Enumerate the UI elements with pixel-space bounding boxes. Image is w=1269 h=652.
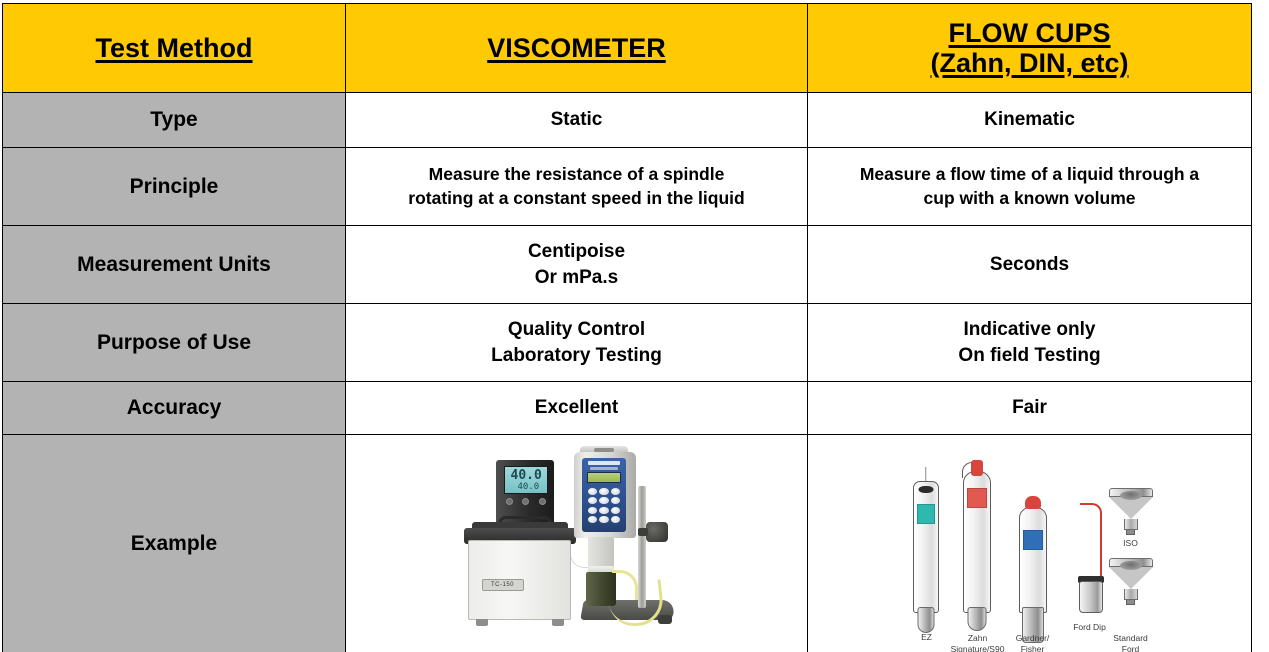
flow-cup-label-gardner-fisher: Gardner/ Fisher bbox=[1003, 633, 1063, 652]
bath-button-3 bbox=[539, 498, 546, 505]
keypad-key bbox=[588, 516, 597, 523]
keypad-key bbox=[588, 488, 597, 495]
keypad-key bbox=[611, 516, 620, 523]
cell-type-viscometer: Static bbox=[346, 93, 808, 148]
row-label-type: Type bbox=[3, 93, 346, 148]
iso-cup-well bbox=[1120, 491, 1142, 500]
cell-principle-flowcups: Measure a flow time of a liquid through … bbox=[808, 148, 1252, 226]
viscometer-lcd-screen bbox=[587, 472, 621, 483]
table-header-row: Test Method VISCOMETER FLOW CUPS (Zahn, … bbox=[3, 4, 1252, 93]
comparison-table-page: Test Method VISCOMETER FLOW CUPS (Zahn, … bbox=[0, 0, 1269, 652]
keypad-key bbox=[611, 488, 620, 495]
flow-cups-illustration: EZ Zahn bbox=[899, 442, 1161, 647]
header-label-viscometer: VISCOMETER bbox=[487, 33, 666, 63]
table-row-measurement-units: Measurement Units Centipoise Or mPa.s Se… bbox=[3, 226, 1252, 304]
flow-cup-label-iso-line1: ISO bbox=[1123, 538, 1138, 548]
flow-cup-label-ford-dip: Ford Dip bbox=[1059, 622, 1121, 633]
bath-button-2 bbox=[522, 498, 529, 505]
ford-dip-bowl bbox=[1079, 581, 1103, 613]
viscometer-keypad bbox=[588, 488, 621, 524]
cell-principle-flowcups-line2: cup with a known volume bbox=[924, 188, 1136, 208]
gardner-cup-clip bbox=[1025, 496, 1041, 509]
flow-cup-label-standard-ford-line1: Standard bbox=[1113, 633, 1148, 643]
flow-cup-label-zahn-line2: Signature/S90 bbox=[951, 644, 1005, 652]
row-label-measurement-units: Measurement Units bbox=[3, 226, 346, 304]
header-cell-flow-cups: FLOW CUPS (Zahn, DIN, etc) bbox=[808, 4, 1252, 93]
zahn-cup-bowl bbox=[967, 607, 986, 631]
table-row-principle: Principle Measure the resistance of a sp… bbox=[3, 148, 1252, 226]
ford-dip-handle bbox=[1080, 503, 1102, 587]
header-label-test-method: Test Method bbox=[96, 33, 253, 63]
flow-cups-photo: EZ Zahn bbox=[808, 436, 1251, 652]
cell-example-viscometer: 40.0 40.0 bbox=[346, 435, 808, 652]
keypad-key bbox=[599, 488, 608, 495]
cell-purpose-flowcups: Indicative only On field Testing bbox=[808, 304, 1252, 382]
table-row-type: Type Static Kinematic bbox=[3, 93, 1252, 148]
flow-cup-ford-dip bbox=[1071, 493, 1111, 613]
standard-ford-well bbox=[1120, 561, 1142, 570]
cell-units-viscometer: Centipoise Or mPa.s bbox=[346, 226, 808, 304]
table-row-example: Example 40.0 40.0 bbox=[3, 435, 1252, 652]
flow-cup-gardner-fisher bbox=[1019, 507, 1047, 613]
viscometer-control-panel bbox=[582, 458, 626, 532]
keypad-key bbox=[599, 516, 608, 523]
cell-units-flowcups-line1: Seconds bbox=[990, 254, 1069, 275]
cell-purpose-viscometer-line1: Quality Control bbox=[508, 319, 645, 340]
flow-cup-ez bbox=[913, 481, 939, 613]
keypad-key bbox=[611, 507, 620, 514]
cell-purpose-viscometer: Quality Control Laboratory Testing bbox=[346, 304, 808, 382]
cell-accuracy-viscometer: Excellent bbox=[346, 382, 808, 435]
gardner-cup-body bbox=[1019, 507, 1047, 613]
header-cell-test-method: Test Method bbox=[3, 4, 346, 93]
iso-cup-tip bbox=[1126, 530, 1135, 535]
cell-purpose-flowcups-line2: On field Testing bbox=[958, 345, 1100, 366]
test-method-comparison-table: Test Method VISCOMETER FLOW CUPS (Zahn, … bbox=[2, 3, 1252, 652]
ez-cup-label-band bbox=[917, 504, 935, 524]
row-label-accuracy: Accuracy bbox=[3, 382, 346, 435]
row-label-example: Example bbox=[3, 435, 346, 652]
header-label-flow-cups-line2: (Zahn, DIN, etc) bbox=[930, 48, 1128, 78]
zahn-cup-clip bbox=[971, 460, 983, 476]
flow-cup-iso bbox=[1109, 488, 1153, 535]
flow-cup-label-gardner-line2: Fisher bbox=[1021, 644, 1045, 652]
row-label-purpose-of-use: Purpose of Use bbox=[3, 304, 346, 382]
viscometer-photo: 40.0 40.0 bbox=[346, 436, 807, 652]
viscometer-illustration: 40.0 40.0 bbox=[462, 442, 692, 647]
standard-ford-cone bbox=[1109, 567, 1153, 589]
standard-ford-tip bbox=[1126, 600, 1135, 605]
standard-ford-rim bbox=[1109, 558, 1153, 567]
flow-cup-label-zahn-line1: Zahn bbox=[968, 633, 987, 643]
bath-foot-left bbox=[476, 619, 488, 626]
cell-principle-flowcups-line1: Measure a flow time of a liquid through … bbox=[860, 164, 1199, 184]
standard-ford-neck bbox=[1124, 589, 1138, 600]
cell-purpose-flowcups-line1: Indicative only bbox=[964, 319, 1096, 340]
cell-units-viscometer-line2: Or mPa.s bbox=[535, 267, 618, 288]
cell-accuracy-flowcups: Fair bbox=[808, 382, 1252, 435]
flow-cup-label-zahn: Zahn Signature/S90 bbox=[945, 633, 1011, 652]
iso-cup-rim bbox=[1109, 488, 1153, 497]
zahn-cup-label-band bbox=[967, 488, 987, 508]
cell-principle-viscometer-line1: Measure the resistance of a spindle bbox=[429, 164, 725, 184]
table-row-accuracy: Accuracy Excellent Fair bbox=[3, 382, 1252, 435]
row-label-principle: Principle bbox=[3, 148, 346, 226]
zahn-cup-body bbox=[963, 471, 991, 613]
keypad-key bbox=[599, 497, 608, 504]
ez-cup-body bbox=[913, 481, 939, 613]
bath-controller-buttons bbox=[506, 498, 546, 505]
flow-cup-label-ford-dip-line1: Ford Dip bbox=[1073, 622, 1106, 632]
keypad-key bbox=[588, 507, 597, 514]
cell-principle-viscometer: Measure the resistance of a spindle rota… bbox=[346, 148, 808, 226]
keypad-key bbox=[599, 507, 608, 514]
flow-cup-label-gardner-line1: Gardner/ bbox=[1016, 633, 1050, 643]
flow-cup-label-iso: ISO bbox=[1107, 538, 1155, 549]
flow-cup-label-ez-line1: EZ bbox=[921, 632, 932, 642]
keypad-key bbox=[611, 497, 620, 504]
cell-principle-viscometer-line2: rotating at a constant speed in the liqu… bbox=[408, 188, 744, 208]
ez-cup-cap bbox=[918, 486, 933, 493]
header-cell-viscometer: VISCOMETER bbox=[346, 4, 808, 93]
cell-example-flowcups: EZ Zahn bbox=[808, 435, 1252, 652]
cell-type-flowcups: Kinematic bbox=[808, 93, 1252, 148]
flow-cup-standard-ford bbox=[1109, 558, 1153, 605]
flow-cup-label-standard-ford-line2: Ford bbox=[1122, 644, 1139, 652]
bath-controller-display: 40.0 40.0 bbox=[504, 466, 548, 494]
water-tube-loop bbox=[606, 579, 664, 628]
cell-purpose-viscometer-line2: Laboratory Testing bbox=[491, 345, 662, 366]
keypad-key bbox=[588, 497, 597, 504]
table-row-purpose-of-use: Purpose of Use Quality Control Laborator… bbox=[3, 304, 1252, 382]
iso-cup-neck bbox=[1124, 519, 1138, 530]
bath-display-setpoint-value: 40.0 bbox=[518, 482, 540, 492]
viscometer-height-adjust-knob bbox=[646, 522, 668, 542]
header-label-flow-cups-line1: FLOW CUPS bbox=[949, 18, 1111, 48]
viscometer-stand-foot bbox=[658, 615, 672, 624]
cell-units-flowcups: Seconds bbox=[808, 226, 1252, 304]
cell-units-viscometer-line1: Centipoise bbox=[528, 241, 625, 262]
flow-cup-zahn bbox=[963, 471, 991, 613]
ez-cup-bowl bbox=[917, 607, 934, 633]
bath-display-main-value: 40.0 bbox=[511, 468, 542, 483]
viscometer-brand-mark bbox=[588, 461, 620, 465]
bath-foot-right bbox=[552, 619, 564, 626]
iso-cup-cone bbox=[1109, 497, 1153, 519]
gardner-cup-label-band bbox=[1023, 530, 1043, 550]
bath-model-plate: TC-150 bbox=[482, 579, 524, 591]
bath-button-1 bbox=[506, 498, 513, 505]
flow-cup-label-standard-ford: Standard Ford bbox=[1101, 633, 1161, 652]
viscometer-model-mark bbox=[590, 467, 618, 470]
